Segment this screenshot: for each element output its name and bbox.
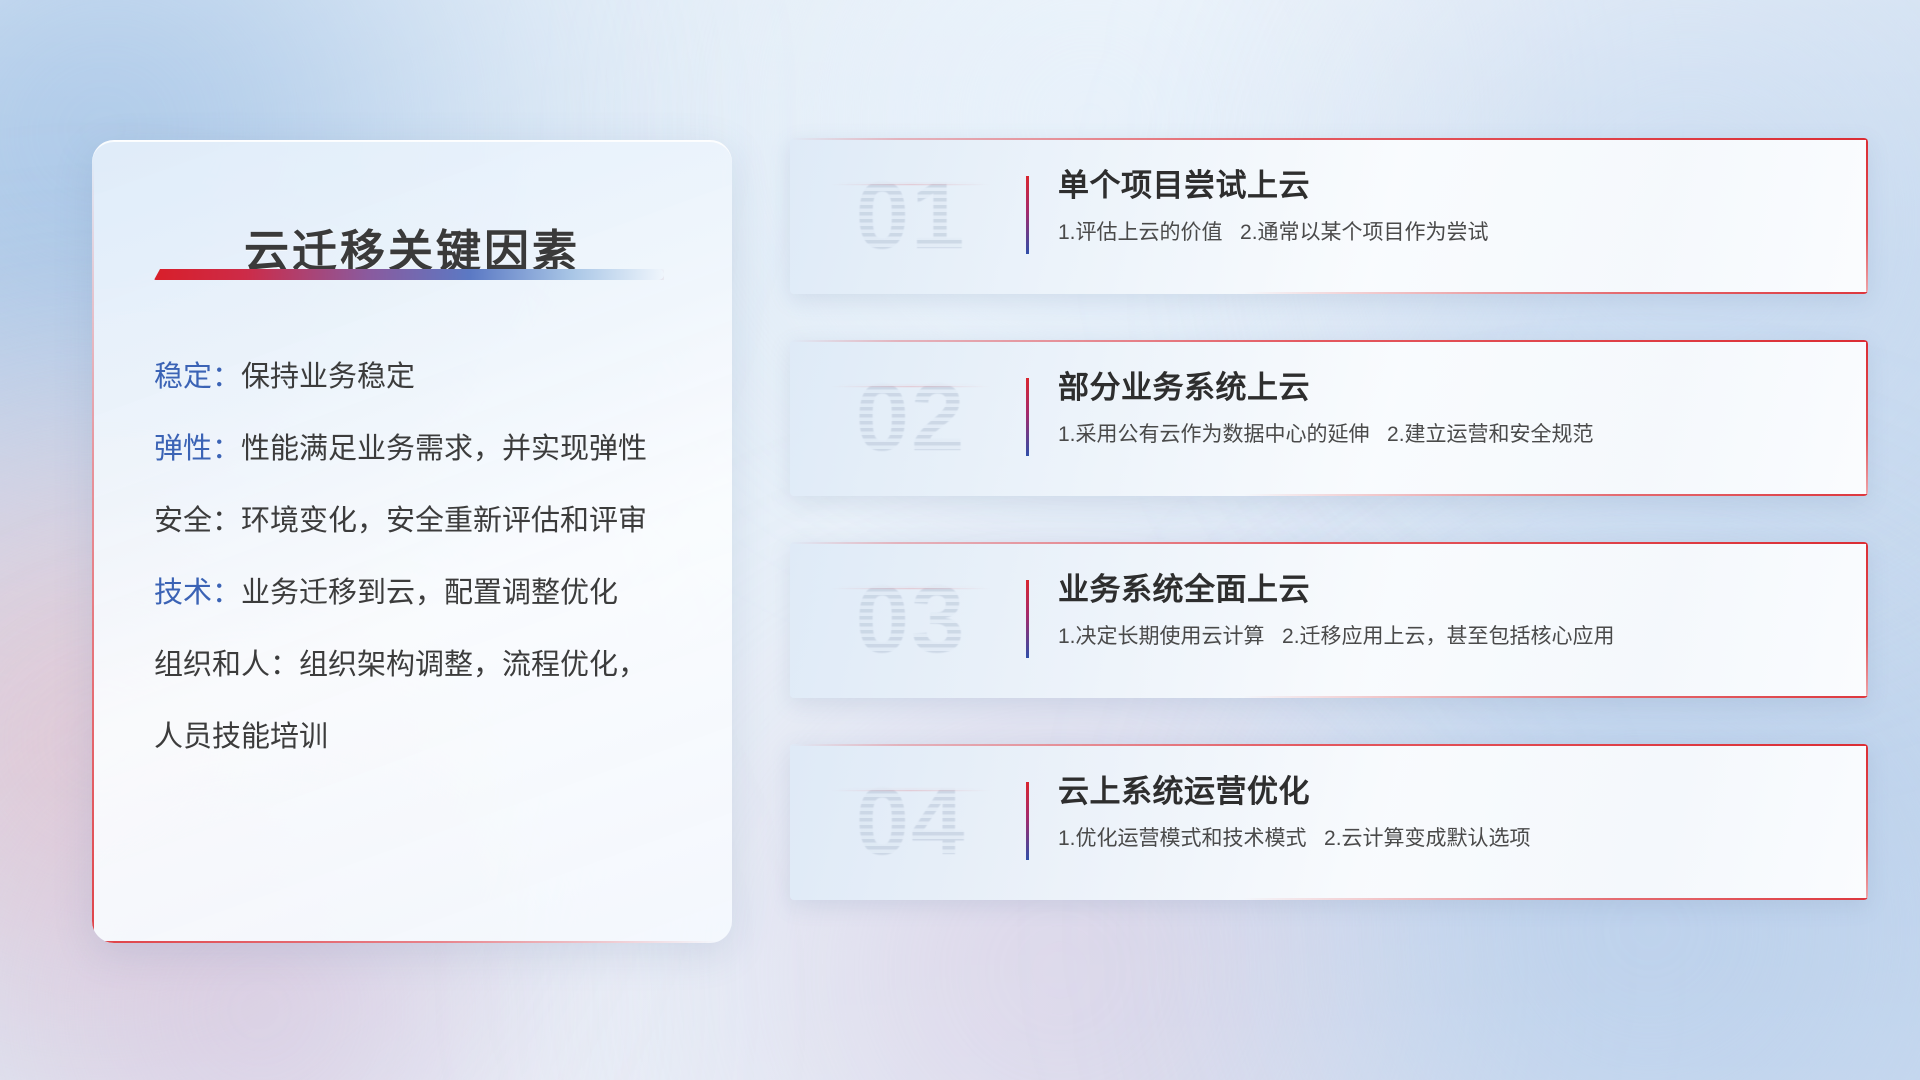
card-right-accent-line [1866,138,1868,294]
stage-number-watermark: 02 [816,358,1006,478]
factor-row-organization-continued: 人员技能培训 [154,723,692,752]
stage-number-watermark: 01 [816,156,1006,276]
card-top-accent-line [790,744,1868,746]
stage-description: 1.决定长期使用云计算 2.迁移应用上云，甚至包括核心应用 [1058,623,1840,650]
factor-row-security: 安全：环境变化，安全重新评估和评审 [154,507,692,536]
factor-label-security: 安全： [154,505,241,537]
factor-row-stability: 稳定：保持业务稳定 [154,363,692,392]
factor-label-organization: 组织和人： [154,649,299,681]
factor-text-security: 环境变化，安全重新评估和评审 [241,505,647,537]
stage-card-list: 01 单个项目尝试上云 1.评估上云的价值 2.通常以某个项目作为尝试 02 部… [790,138,1868,900]
factor-row-technology: 技术：业务迁移到云，配置调整优化 [154,579,692,608]
stage-title: 业务系统全面上云 [1058,572,1840,609]
factor-text-organization-continued: 人员技能培训 [154,721,328,753]
panel-bottom-accent-line [92,941,718,943]
stage-card-body: 业务系统全面上云 1.决定长期使用云计算 2.迁移应用上云，甚至包括核心应用 [1058,572,1840,650]
factor-label-elasticity: 弹性： [154,433,241,465]
card-right-accent-line [1866,744,1868,900]
stage-number-watermark: 03 [816,560,1006,680]
factor-text-elasticity: 性能满足业务需求，并实现弹性 [241,433,647,465]
card-divider-bar [1026,176,1029,254]
card-top-accent-line [790,542,1868,544]
stage-card-01[interactable]: 01 单个项目尝试上云 1.评估上云的价值 2.通常以某个项目作为尝试 [790,138,1868,294]
stage-card-03[interactable]: 03 业务系统全面上云 1.决定长期使用云计算 2.迁移应用上云，甚至包括核心应… [790,542,1868,698]
card-divider-bar [1026,378,1029,456]
factor-text-technology: 业务迁移到云，配置调整优化 [241,577,618,609]
card-divider-bar [1026,782,1029,860]
factor-label-stability: 稳定： [154,361,241,393]
factor-text-organization: 组织架构调整，流程优化， [299,649,647,681]
stage-title: 云上系统运营优化 [1058,774,1840,811]
key-factors-panel: 云迁移关键因素 稳定：保持业务稳定 弹性：性能满足业务需求，并实现弹性 安全：环… [92,140,732,943]
factor-text-stability: 保持业务稳定 [241,361,415,393]
card-right-accent-line [1866,340,1868,496]
stage-card-04[interactable]: 04 云上系统运营优化 1.优化运营模式和技术模式 2.云计算变成默认选项 [790,744,1868,900]
factor-list: 稳定：保持业务稳定 弹性：性能满足业务需求，并实现弹性 安全：环境变化，安全重新… [154,363,692,752]
stage-number-watermark: 04 [816,762,1006,882]
card-bottom-accent-line [1243,696,1868,698]
stage-card-body: 单个项目尝试上云 1.评估上云的价值 2.通常以某个项目作为尝试 [1058,168,1840,246]
stage-description: 1.采用公有云作为数据中心的延伸 2.建立运营和安全规范 [1058,421,1840,448]
factor-label-technology: 技术： [154,577,241,609]
card-right-accent-line [1866,542,1868,698]
card-bottom-accent-line [1243,898,1868,900]
card-bottom-accent-line [1243,494,1868,496]
title-underline-accent [154,269,664,280]
card-top-accent-line [790,340,1868,342]
factor-row-elasticity: 弹性：性能满足业务需求，并实现弹性 [154,435,692,464]
stage-description: 1.优化运营模式和技术模式 2.云计算变成默认选项 [1058,825,1840,852]
stage-card-body: 部分业务系统上云 1.采用公有云作为数据中心的延伸 2.建立运营和安全规范 [1058,370,1840,448]
stage-card-02[interactable]: 02 部分业务系统上云 1.采用公有云作为数据中心的延伸 2.建立运营和安全规范 [790,340,1868,496]
stage-title: 部分业务系统上云 [1058,370,1840,407]
factor-row-organization: 组织和人：组织架构调整，流程优化， [154,651,692,680]
card-bottom-accent-line [1243,292,1868,294]
card-divider-bar [1026,580,1029,658]
stage-description: 1.评估上云的价值 2.通常以某个项目作为尝试 [1058,219,1840,246]
card-top-accent-line [790,138,1868,140]
stage-card-body: 云上系统运营优化 1.优化运营模式和技术模式 2.云计算变成默认选项 [1058,774,1840,852]
stage-title: 单个项目尝试上云 [1058,168,1840,205]
